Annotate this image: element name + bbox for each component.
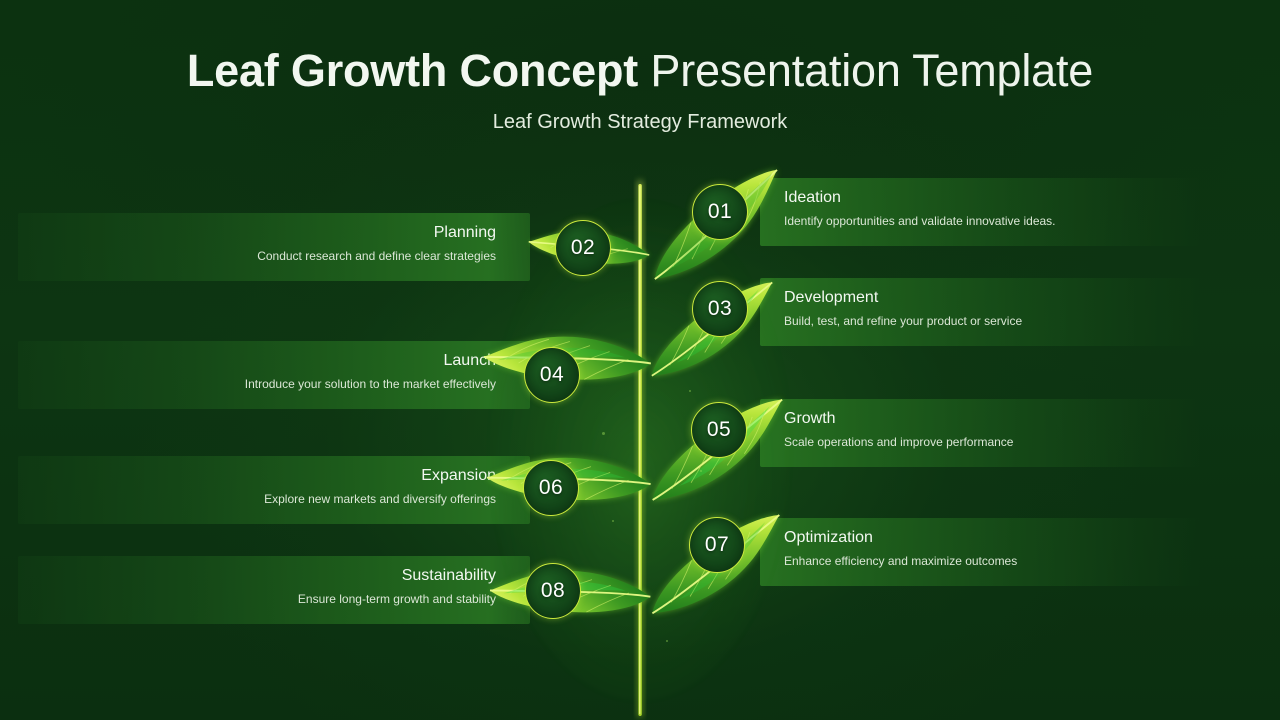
step-badge-01[interactable]: 01 bbox=[692, 184, 748, 240]
step-badge-number: 08 bbox=[541, 579, 565, 603]
step-card-ideation[interactable]: Ideation Identify opportunities and vali… bbox=[760, 178, 1200, 246]
step-badge-08[interactable]: 08 bbox=[525, 563, 581, 619]
page-subtitle: Leaf Growth Strategy Framework bbox=[0, 108, 1280, 136]
step-description: Build, test, and refine your product or … bbox=[784, 312, 1200, 330]
step-card-planning[interactable]: Planning Conduct research and define cle… bbox=[18, 213, 530, 281]
step-badge-04[interactable]: 04 bbox=[524, 347, 580, 403]
step-badge-number: 04 bbox=[540, 363, 564, 387]
sparkle-dot bbox=[700, 470, 702, 472]
step-description: Identify opportunities and validate inno… bbox=[784, 212, 1200, 230]
step-card-growth[interactable]: Growth Scale operations and improve perf… bbox=[760, 399, 1200, 467]
slide-header: Leaf Growth Concept Presentation Templat… bbox=[0, 0, 1280, 136]
step-title: Planning bbox=[18, 222, 496, 244]
sparkle-dot bbox=[602, 432, 605, 435]
step-title: Optimization bbox=[784, 527, 1200, 549]
step-badge-number: 03 bbox=[708, 297, 732, 321]
step-card-sustainability[interactable]: Sustainability Ensure long-term growth a… bbox=[18, 556, 530, 624]
step-badge-03[interactable]: 03 bbox=[692, 281, 748, 337]
step-card-launch[interactable]: Launch Introduce your solution to the ma… bbox=[18, 341, 530, 409]
step-badge-number: 07 bbox=[705, 533, 729, 557]
step-title: Launch bbox=[18, 350, 496, 372]
step-badge-05[interactable]: 05 bbox=[691, 402, 747, 458]
step-description: Scale operations and improve performance bbox=[784, 433, 1200, 451]
step-title: Ideation bbox=[784, 187, 1200, 209]
step-title: Growth bbox=[784, 408, 1200, 430]
sparkle-dot bbox=[666, 640, 668, 642]
step-title: Expansion bbox=[18, 465, 496, 487]
step-badge-number: 02 bbox=[571, 236, 595, 260]
step-title: Sustainability bbox=[18, 565, 496, 587]
sparkle-dot bbox=[612, 520, 614, 522]
growing-leaf-plant-graphic bbox=[455, 150, 825, 720]
step-badge-07[interactable]: 07 bbox=[689, 517, 745, 573]
plant-stem bbox=[637, 156, 643, 718]
sparkle-dot bbox=[689, 390, 691, 392]
step-title: Development bbox=[784, 287, 1200, 309]
slide-canvas: Leaf Growth Concept Presentation Templat… bbox=[0, 0, 1280, 720]
step-description: Introduce your solution to the market ef… bbox=[18, 375, 496, 393]
step-description: Explore new markets and diversify offeri… bbox=[18, 490, 496, 508]
step-card-development[interactable]: Development Build, test, and refine your… bbox=[760, 278, 1200, 346]
step-badge-number: 06 bbox=[539, 476, 563, 500]
step-card-expansion[interactable]: Expansion Explore new markets and divers… bbox=[18, 456, 530, 524]
page-title-bold: Leaf Growth Concept bbox=[187, 45, 638, 96]
step-description: Ensure long-term growth and stability bbox=[18, 590, 496, 608]
step-badge-number: 05 bbox=[707, 418, 731, 442]
step-badge-02[interactable]: 02 bbox=[555, 220, 611, 276]
step-description: Enhance efficiency and maximize outcomes bbox=[784, 552, 1200, 570]
page-title: Leaf Growth Concept Presentation Templat… bbox=[0, 42, 1280, 100]
step-badge-number: 01 bbox=[708, 200, 732, 224]
page-title-light: Presentation Template bbox=[638, 45, 1093, 96]
step-description: Conduct research and define clear strate… bbox=[18, 247, 496, 265]
step-card-optimization[interactable]: Optimization Enhance efficiency and maxi… bbox=[760, 518, 1200, 586]
step-badge-06[interactable]: 06 bbox=[523, 460, 579, 516]
